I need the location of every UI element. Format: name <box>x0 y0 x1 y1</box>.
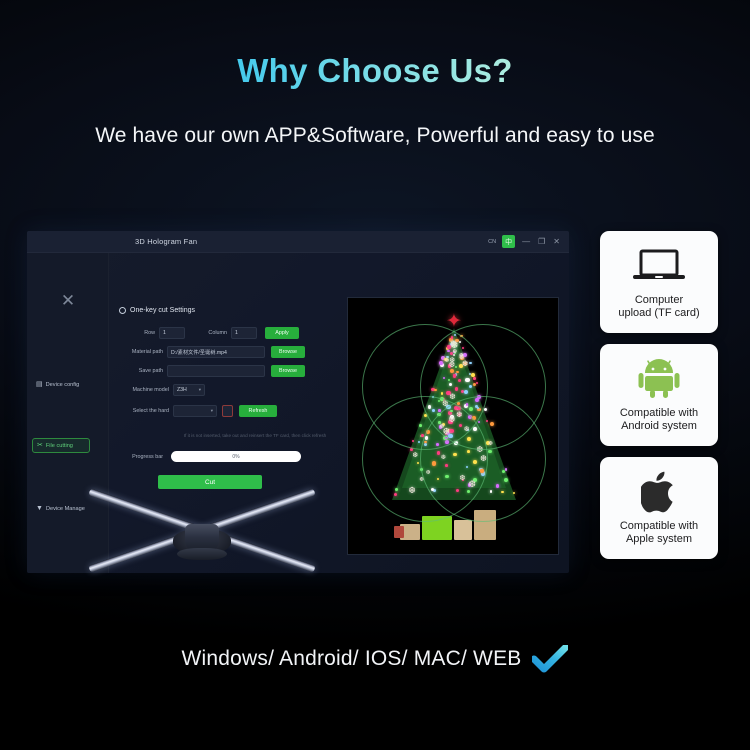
feature-card-label: Computer upload (TF card) <box>614 294 703 320</box>
apply-button[interactable]: Apply <box>265 327 299 339</box>
sidebar-item-device-config[interactable]: ▤ Device config <box>34 378 104 391</box>
save-path-label: Save path <box>119 368 163 374</box>
device-manage-icon: ▼ <box>36 505 43 512</box>
column-input[interactable]: 1 <box>231 327 257 339</box>
maximize-icon[interactable]: ❐ <box>537 238 546 246</box>
feature-cards: Computer upload (TF card) <box>600 231 718 559</box>
fan-hub-base <box>177 548 227 560</box>
disk-status-indicator <box>222 405 233 417</box>
feature-card-android[interactable]: Compatible with Android system <box>600 344 718 446</box>
material-path-label: Material path <box>119 349 163 355</box>
refresh-button[interactable]: Refresh <box>239 405 277 417</box>
window-titlebar: 3D Hologram Fan CN 中 — ❐ ✕ <box>27 231 569 253</box>
row-label: Row <box>119 330 155 336</box>
row-column-row: Row 1 Column 1 Apply <box>119 327 359 339</box>
save-browse-button[interactable]: Browse <box>271 365 305 377</box>
feature-card-computer[interactable]: Computer upload (TF card) <box>600 231 718 333</box>
save-path-input[interactable] <box>167 365 265 377</box>
material-browse-button[interactable]: Browse <box>271 346 305 358</box>
android-icon <box>638 358 680 400</box>
fan-logo-icon: ✕ <box>27 291 109 311</box>
panel-heading: One-key cut Settings <box>119 307 195 314</box>
sidebar-item-label: Device Manage <box>46 506 85 512</box>
row-input[interactable]: 1 <box>159 327 185 339</box>
hologram-fan-device <box>88 470 316 590</box>
hologram-preview[interactable]: ✦ ❆❆❆❆❆❆❆❆❆❆❆❆❆❆❆❆❆❆❆❆❆❆❆❆❆❆ <box>347 297 559 555</box>
material-path-row: Material path D:/素材文件/圣诞树.mp4 Browse <box>119 346 359 358</box>
select-disk-row: Select the hard ▾ Refresh <box>119 405 359 417</box>
progress-row: Progress bar 0% <box>119 451 301 462</box>
sidebar-item-label: Device config <box>46 382 80 388</box>
machine-model-value: Z3H <box>177 387 187 393</box>
chevron-down-icon: ▾ <box>199 387 201 393</box>
close-icon[interactable]: ✕ <box>552 238 561 246</box>
window-controls: CN 中 — ❐ ✕ <box>488 235 561 248</box>
select-disk-label: Select the hard <box>119 408 169 414</box>
machine-model-row: Machine model Z3H ▾ <box>119 384 359 396</box>
fan-circle <box>420 396 546 522</box>
chevron-down-icon: ▾ <box>211 408 213 414</box>
feature-card-label: Compatible with Android system <box>616 407 702 433</box>
settings-ring-icon <box>119 307 126 314</box>
minimize-icon[interactable]: — <box>521 238 531 246</box>
language-label: CN <box>488 239 496 245</box>
sidebar-item-file-cutting[interactable]: ✂ File cutting <box>32 438 90 453</box>
progress-bar: 0% <box>171 451 301 462</box>
laptop-icon <box>633 245 685 287</box>
tf-card-hint: If it is not inserted, take out and rein… <box>155 433 355 438</box>
panel-heading-label: One-key cut Settings <box>130 307 195 314</box>
page-subtitle: We have our own APP&Software, Powerful a… <box>0 124 750 148</box>
blue-checkmark-icon <box>532 645 568 673</box>
save-path-row: Save path Browse <box>119 365 359 377</box>
progress-label: Progress bar <box>119 454 163 460</box>
cut-settings-form: Row 1 Column 1 Apply Material path D:/素材… <box>119 327 359 424</box>
device-config-icon: ▤ <box>36 381 43 388</box>
fan-path-circles <box>348 298 558 554</box>
footer-strip: Windows/ Android/ IOS/ MAC/ WEB <box>0 645 750 673</box>
promo-page: Why Choose Us? We have our own APP&Softw… <box>0 0 750 750</box>
apple-icon <box>641 471 677 513</box>
select-disk-select[interactable]: ▾ <box>173 405 217 417</box>
machine-model-select[interactable]: Z3H ▾ <box>173 384 205 396</box>
machine-model-label: Machine model <box>119 387 169 393</box>
feature-card-apple[interactable]: Compatible with Apple system <box>600 457 718 559</box>
platform-support-text: Windows/ Android/ IOS/ MAC/ WEB <box>182 647 522 671</box>
sidebar-item-label: File cutting <box>46 443 73 449</box>
language-toggle-button[interactable]: 中 <box>502 235 515 248</box>
material-path-input[interactable]: D:/素材文件/圣诞树.mp4 <box>167 346 265 358</box>
column-label: Column <box>185 330 227 336</box>
feature-card-label: Compatible with Apple system <box>616 520 702 546</box>
file-cutting-icon: ✂ <box>37 442 43 449</box>
page-title: Why Choose Us? <box>0 52 750 90</box>
window-title: 3D Hologram Fan <box>135 237 197 246</box>
